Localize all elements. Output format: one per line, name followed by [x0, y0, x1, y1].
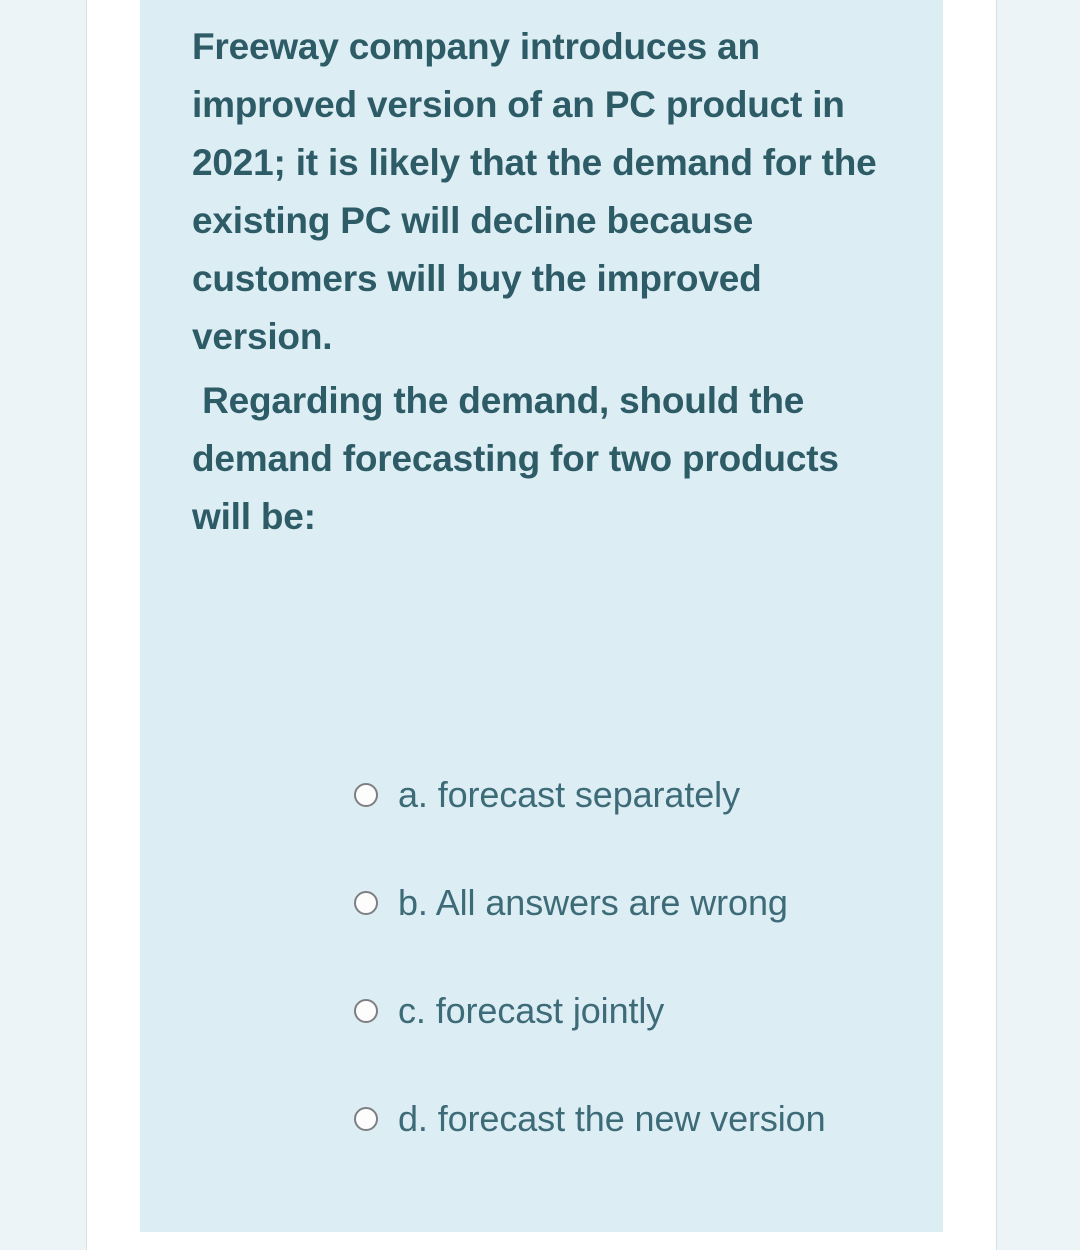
option-row-a[interactable]: a. forecast separately [332, 766, 1032, 824]
question-statement: Freeway company introduces an improved v… [192, 0, 891, 546]
question-card: Freeway company introduces an improved v… [140, 0, 943, 1232]
option-row-d[interactable]: d. forecast the new version [332, 1090, 1032, 1148]
option-label-a[interactable]: a. forecast separately [398, 773, 740, 817]
option-row-b[interactable]: b. All answers are wrong [332, 874, 1032, 932]
option-row-c[interactable]: c. forecast jointly [332, 982, 1032, 1040]
answer-options-list: a. forecast separately b. All answers ar… [332, 766, 1032, 1148]
page-root: Freeway company introduces an improved v… [0, 0, 1080, 1250]
question-paragraph-1: Freeway company introduces an improved v… [192, 18, 891, 366]
option-label-b[interactable]: b. All answers are wrong [398, 881, 788, 925]
question-paragraph-2: Regarding the demand, should the demand … [192, 372, 891, 546]
option-label-c[interactable]: c. forecast jointly [398, 989, 664, 1033]
radio-button-c-icon[interactable] [354, 999, 378, 1023]
option-label-d[interactable]: d. forecast the new version [398, 1097, 826, 1141]
radio-button-d-icon[interactable] [354, 1107, 378, 1131]
radio-button-b-icon[interactable] [354, 891, 378, 915]
radio-button-a-icon[interactable] [354, 783, 378, 807]
